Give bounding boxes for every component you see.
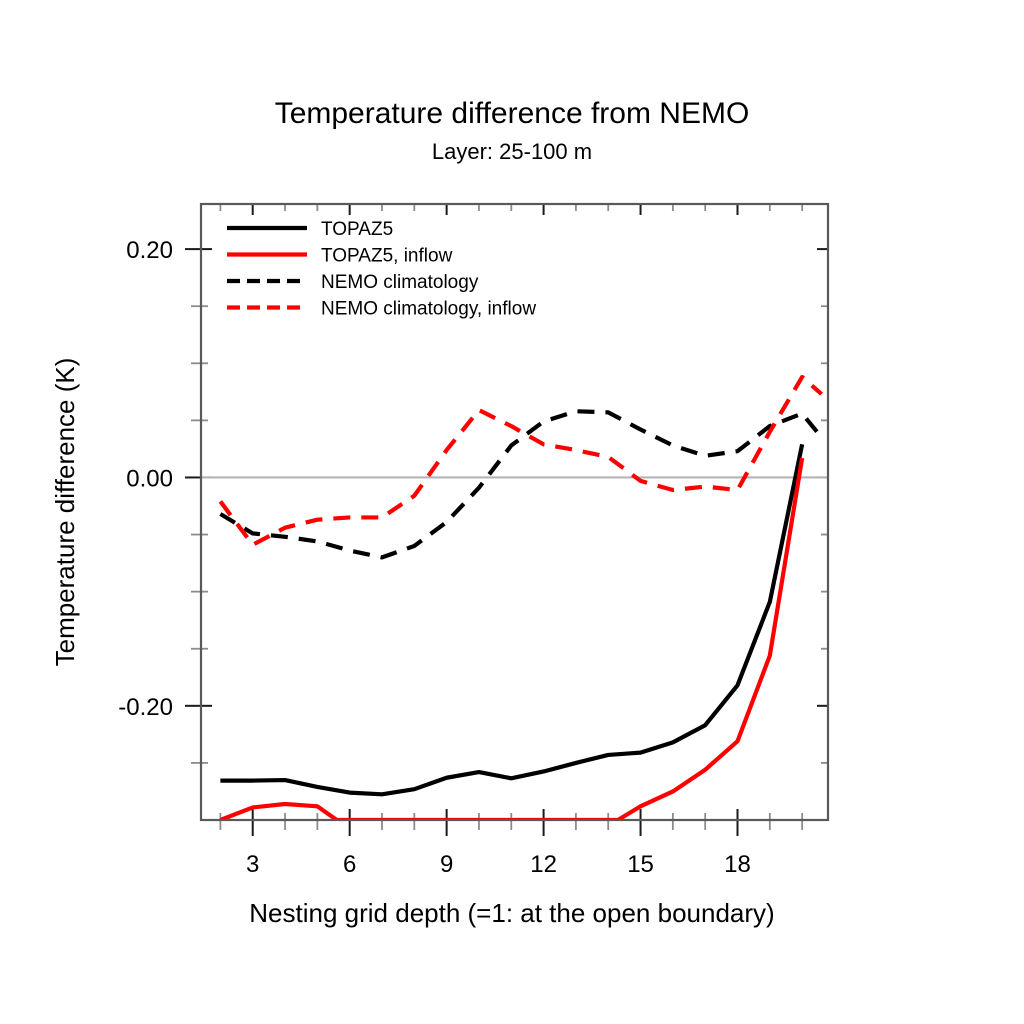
legend-label-1: TOPAZ5, inflow (321, 246, 453, 267)
chart-subtitle: Layer: 25-100 m (432, 139, 592, 164)
x-tick-label: 3 (246, 851, 259, 878)
x-tick-label: 18 (724, 851, 751, 878)
x-tick-label: 15 (627, 851, 654, 878)
y-tick-label: -0.20 (118, 694, 173, 721)
x-axis-label: Nesting grid depth (=1: at the open boun… (249, 898, 774, 928)
chart-title: Temperature difference from NEMO (275, 97, 750, 130)
legend-label-3: NEMO climatology, inflow (321, 299, 536, 320)
x-tick-label: 6 (343, 851, 356, 878)
y-tick-label: 0.20 (126, 237, 173, 264)
legend-label-0: TOPAZ5 (321, 219, 393, 240)
x-tick-label: 12 (530, 851, 557, 878)
legend-label-2: NEMO climatology (321, 272, 479, 293)
y-axis-label: Temperature difference (K) (50, 358, 80, 667)
y-tick-label: 0.00 (126, 465, 173, 492)
x-tick-label: 9 (440, 851, 453, 878)
temperature-difference-chart: Temperature difference from NEMO Layer: … (0, 0, 1024, 1024)
